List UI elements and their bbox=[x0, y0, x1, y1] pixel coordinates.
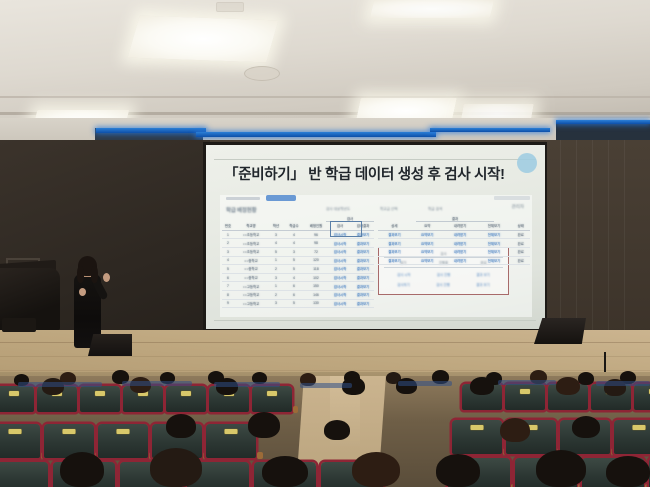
cell-link[interactable]: 검사시작 bbox=[328, 239, 352, 248]
table-row: 4○○중학교15120검사시작결과보기 bbox=[222, 256, 374, 265]
audience-member-head bbox=[470, 377, 494, 395]
aisle-carpet-band bbox=[214, 382, 280, 387]
audience-member-head bbox=[606, 456, 650, 487]
seat-number-plate bbox=[471, 425, 484, 430]
app-heading: 학급 배정현황 bbox=[226, 206, 257, 214]
cell-grade: 3 bbox=[268, 230, 284, 239]
seat-number-plate bbox=[181, 391, 191, 396]
seat-number-plate bbox=[9, 429, 22, 434]
seat-number-plate bbox=[633, 425, 646, 430]
cell-link[interactable]: 검사시작 bbox=[328, 299, 352, 308]
aisle-carpet-band bbox=[122, 381, 192, 386]
cell-link[interactable]: 검사시작 bbox=[328, 256, 352, 265]
cell-school: ○○초등학교 bbox=[234, 247, 268, 256]
hp-cell-r1c3[interactable]: 결과 보기 bbox=[476, 272, 489, 277]
rcol-4: 전체보기 bbox=[477, 222, 512, 230]
rcol-1: 상세 bbox=[378, 222, 411, 230]
result-cell-3[interactable]: 전체보기 bbox=[477, 230, 512, 239]
cell-school: ○○초등학교 bbox=[234, 230, 268, 239]
cell-students: 102 bbox=[304, 273, 328, 282]
app-breadcrumb bbox=[226, 197, 260, 200]
cell-no: 6 bbox=[222, 273, 234, 282]
cell-link[interactable]: 검사시작 bbox=[328, 247, 352, 256]
cell-school: ○○고등학교 bbox=[234, 282, 268, 291]
ceiling-vent-icon bbox=[244, 66, 280, 81]
microphone-stand bbox=[604, 352, 606, 372]
table-row: 9○○고등학교35130검사시작결과보기 bbox=[222, 299, 374, 308]
result-cell-0[interactable]: 결과보기 bbox=[378, 247, 411, 256]
col-school: 학교명 bbox=[234, 222, 268, 230]
cell-grade: 2 bbox=[268, 290, 284, 299]
cell-no: 2 bbox=[222, 239, 234, 248]
cell-no: 5 bbox=[222, 265, 234, 274]
cell-link[interactable]: 검사시작 bbox=[328, 282, 352, 291]
results-row: 결과보기요약보기내려받기전체보기완료 bbox=[378, 230, 530, 239]
hp-cell-r2c3[interactable]: 결과 보기 bbox=[476, 282, 489, 287]
seat-number-plate bbox=[9, 391, 19, 396]
seat-number-plate bbox=[267, 391, 277, 396]
col-students: 배정인원 bbox=[304, 222, 328, 230]
cell-grade: 4 bbox=[268, 239, 284, 248]
cell-classes: 5 bbox=[284, 265, 304, 274]
cell-result[interactable]: 결과보기 bbox=[352, 299, 374, 308]
audience-member-head bbox=[324, 420, 350, 440]
cell-students: 146 bbox=[304, 290, 328, 299]
result-cell-3[interactable]: 전체보기 bbox=[477, 247, 512, 256]
blue-led-strip bbox=[96, 128, 206, 133]
presenter-hand bbox=[79, 288, 86, 296]
slide-divider bbox=[214, 320, 536, 321]
result-cell-4: 완료 bbox=[511, 247, 530, 256]
projection-screen: 「준비하기」 반 학급 데이터 생성 후 검사 시작! 학급 배정현황 관리자 … bbox=[206, 145, 545, 329]
audience-member-head bbox=[60, 452, 104, 487]
seat-number-plate bbox=[63, 429, 76, 434]
cell-grade: 3 bbox=[268, 273, 284, 282]
presenter-hand bbox=[103, 273, 110, 282]
aisle-carpet-band bbox=[398, 381, 452, 386]
app-user-info bbox=[494, 196, 530, 200]
col-no: 번호 bbox=[222, 222, 234, 230]
rcol-3: 내려받기 bbox=[444, 222, 477, 230]
audience-member-head bbox=[352, 452, 400, 487]
auditorium-seat bbox=[0, 462, 48, 487]
ceiling bbox=[0, 0, 650, 132]
cell-grade: 5 bbox=[268, 247, 284, 256]
audience-member-head bbox=[572, 416, 600, 438]
cell-students: 118 bbox=[304, 265, 328, 274]
cell-no: 9 bbox=[222, 299, 234, 308]
seat-number-plate bbox=[225, 429, 238, 434]
result-cell-2[interactable]: 내려받기 bbox=[444, 230, 477, 239]
cell-school: ○○중학교 bbox=[234, 273, 268, 282]
aisle-carpet-band bbox=[300, 383, 352, 388]
app-user-label: 관리자 bbox=[512, 204, 524, 210]
audience-member-head bbox=[556, 377, 580, 395]
rcol-2: 요약 bbox=[411, 222, 444, 230]
results-row: 결과보기요약보기내려받기전체보기완료 bbox=[378, 247, 530, 256]
result-cell-2[interactable]: 내려받기 bbox=[444, 256, 477, 265]
cell-result[interactable]: 결과보기 bbox=[352, 247, 374, 256]
aisle-carpet-band bbox=[18, 382, 102, 387]
rcol-5: 상태 bbox=[511, 222, 530, 230]
results-row: 결과보기요약보기내려받기전체보기완료 bbox=[378, 256, 530, 265]
results-header-row: 상세 요약 내려받기 전체보기 상태 bbox=[378, 222, 530, 230]
cell-no: 4 bbox=[222, 256, 234, 265]
cell-classes: 4 bbox=[284, 273, 304, 282]
stage-monitor-speaker bbox=[88, 334, 132, 356]
slide-app-screenshot: 학급 배정현황 관리자 검사 대상학년도 학교급 선택 학급 검색 검사 결과 … bbox=[220, 195, 532, 317]
cell-students: 130 bbox=[304, 299, 328, 308]
table-row: 3○○초등학교5372검사시작결과보기 bbox=[222, 247, 374, 256]
result-cell-2[interactable]: 내려받기 bbox=[444, 239, 477, 248]
cell-students: 120 bbox=[304, 256, 328, 265]
cell-students: 96 bbox=[304, 230, 328, 239]
slide-title: 「준비하기」 반 학급 데이터 생성 후 검사 시작! bbox=[224, 163, 524, 184]
app-badge bbox=[266, 195, 296, 201]
piano-bench bbox=[2, 318, 36, 332]
result-cell-1[interactable]: 요약보기 bbox=[411, 230, 444, 239]
cell-grade: 2 bbox=[268, 265, 284, 274]
hp-cell-r2c1[interactable]: 검사하기 bbox=[397, 282, 409, 287]
cell-no: 3 bbox=[222, 247, 234, 256]
ceiling-seam bbox=[0, 96, 650, 98]
audience-member-head bbox=[248, 412, 280, 438]
cell-school: ○○고등학교 bbox=[234, 290, 268, 299]
cell-link[interactable]: 검사시작 bbox=[328, 265, 352, 274]
cell-no: 1 bbox=[222, 230, 234, 239]
hp-cell-r1c1[interactable]: 검사 시작 bbox=[397, 272, 410, 277]
cell-no: 7 bbox=[222, 282, 234, 291]
auditorium-seat bbox=[634, 384, 650, 410]
audience-member-head bbox=[500, 418, 530, 442]
cell-students: 98 bbox=[304, 239, 328, 248]
app-filter-1[interactable]: 검사 대상학년도 bbox=[326, 207, 350, 212]
audience-member-head bbox=[150, 448, 202, 487]
result-cell-4: 완료 bbox=[511, 230, 530, 239]
cell-link[interactable]: 검사시작 bbox=[328, 273, 352, 282]
cell-result[interactable]: 결과보기 bbox=[352, 239, 374, 248]
audience-member-head bbox=[166, 414, 196, 438]
seat-number-plate bbox=[117, 429, 130, 434]
cell-school: ○○중학교 bbox=[234, 265, 268, 274]
result-cell-1[interactable]: 요약보기 bbox=[411, 239, 444, 248]
selected-cell-outline bbox=[330, 221, 362, 237]
table-row: 2○○초등학교4498검사시작결과보기 bbox=[222, 239, 374, 248]
cell-link[interactable]: 검사시작 bbox=[328, 290, 352, 299]
result-cell-3[interactable]: 전체보기 bbox=[477, 239, 512, 248]
cell-result[interactable]: 결과보기 bbox=[352, 282, 374, 291]
cell-result[interactable]: 결과보기 bbox=[352, 290, 374, 299]
cell-classes: 4 bbox=[284, 239, 304, 248]
audience-member-head bbox=[578, 372, 594, 385]
seat-number-plate bbox=[95, 391, 105, 396]
table-row: 5○○중학교25118검사시작결과보기 bbox=[222, 265, 374, 274]
aisle-carpet-band bbox=[596, 381, 650, 386]
auditorium-photo: 「준비하기」 반 학급 데이터 생성 후 검사 시작! 학급 배정현황 관리자 … bbox=[0, 0, 650, 487]
cell-classes: 5 bbox=[284, 299, 304, 308]
seat-armrest bbox=[293, 406, 298, 413]
ceiling-light-panel bbox=[128, 16, 279, 63]
slide-divider bbox=[214, 159, 536, 160]
hp-cell-r1c2[interactable]: 검사 진행 bbox=[437, 272, 450, 277]
seat-number-plate bbox=[520, 389, 530, 394]
cell-result[interactable]: 결과보기 bbox=[352, 273, 374, 282]
app-filter-2[interactable]: 학교급 선택 bbox=[380, 207, 398, 212]
aisle-carpet-band bbox=[498, 380, 556, 385]
cell-school: ○○초등학교 bbox=[234, 239, 268, 248]
presenter-hair bbox=[77, 266, 84, 283]
result-cell-4: 완료 bbox=[511, 256, 530, 265]
auditorium-seat bbox=[80, 386, 120, 412]
result-cell-2[interactable]: 내려받기 bbox=[444, 247, 477, 256]
result-cell-0[interactable]: 결과보기 bbox=[378, 239, 411, 248]
results-row: 결과보기요약보기내려받기전체보기완료 bbox=[378, 239, 530, 248]
cell-classes: 4 bbox=[284, 230, 304, 239]
table-row: 8○○고등학교26146검사시작결과보기 bbox=[222, 290, 374, 299]
cell-students: 72 bbox=[304, 247, 328, 256]
app-filter-3[interactable]: 학급 검색 bbox=[428, 207, 442, 212]
auditorium-seat bbox=[0, 386, 34, 412]
cell-grade: 1 bbox=[268, 256, 284, 265]
cell-classes: 5 bbox=[284, 256, 304, 265]
seat-armrest bbox=[257, 452, 263, 459]
blue-led-strip bbox=[196, 132, 436, 137]
cell-result[interactable]: 결과보기 bbox=[352, 256, 374, 265]
stage-monitor-speaker bbox=[534, 318, 586, 344]
result-cell-3[interactable]: 전체보기 bbox=[477, 256, 512, 265]
col-classes: 학급수 bbox=[284, 222, 304, 230]
result-cell-4: 완료 bbox=[511, 239, 530, 248]
audience-member-head bbox=[536, 450, 586, 487]
auditorium-seat bbox=[252, 386, 292, 412]
result-cell-1[interactable]: 요약보기 bbox=[411, 247, 444, 256]
col-grade: 학년 bbox=[268, 222, 284, 230]
cell-school: ○○중학교 bbox=[234, 256, 268, 265]
table-row: 6○○중학교34102검사시작결과보기 bbox=[222, 273, 374, 282]
result-cell-0[interactable]: 결과보기 bbox=[378, 230, 411, 239]
audience-member-head bbox=[436, 454, 480, 487]
ceiling-light-panel bbox=[370, 0, 494, 18]
presenter-hair bbox=[91, 266, 98, 283]
cell-classes: 3 bbox=[284, 247, 304, 256]
cell-students: 150 bbox=[304, 282, 328, 291]
cell-grade: 3 bbox=[268, 299, 284, 308]
blue-led-strip bbox=[556, 120, 650, 124]
auditorium-seat bbox=[505, 384, 545, 410]
cell-grade: 1 bbox=[268, 282, 284, 291]
result-cell-0[interactable]: 결과보기 bbox=[378, 256, 411, 265]
results-table: 상세 요약 내려받기 전체보기 상태 결과보기요약보기내려받기전체보기완료결과보… bbox=[378, 222, 530, 265]
blue-led-strip bbox=[430, 128, 550, 132]
cell-school: ○○고등학교 bbox=[234, 299, 268, 308]
result-cell-1[interactable]: 요약보기 bbox=[411, 256, 444, 265]
hp-cell-r2c2[interactable]: 검사 진행 bbox=[436, 282, 449, 287]
cell-classes: 6 bbox=[284, 290, 304, 299]
table-row: 7○○고등학교16150검사시작결과보기 bbox=[222, 282, 374, 291]
cell-classes: 6 bbox=[284, 282, 304, 291]
cell-result[interactable]: 결과보기 bbox=[352, 265, 374, 274]
ceiling-vent-icon bbox=[216, 2, 244, 12]
audience-member-head bbox=[262, 456, 308, 487]
cell-no: 8 bbox=[222, 290, 234, 299]
auditorium-seat bbox=[166, 386, 206, 412]
